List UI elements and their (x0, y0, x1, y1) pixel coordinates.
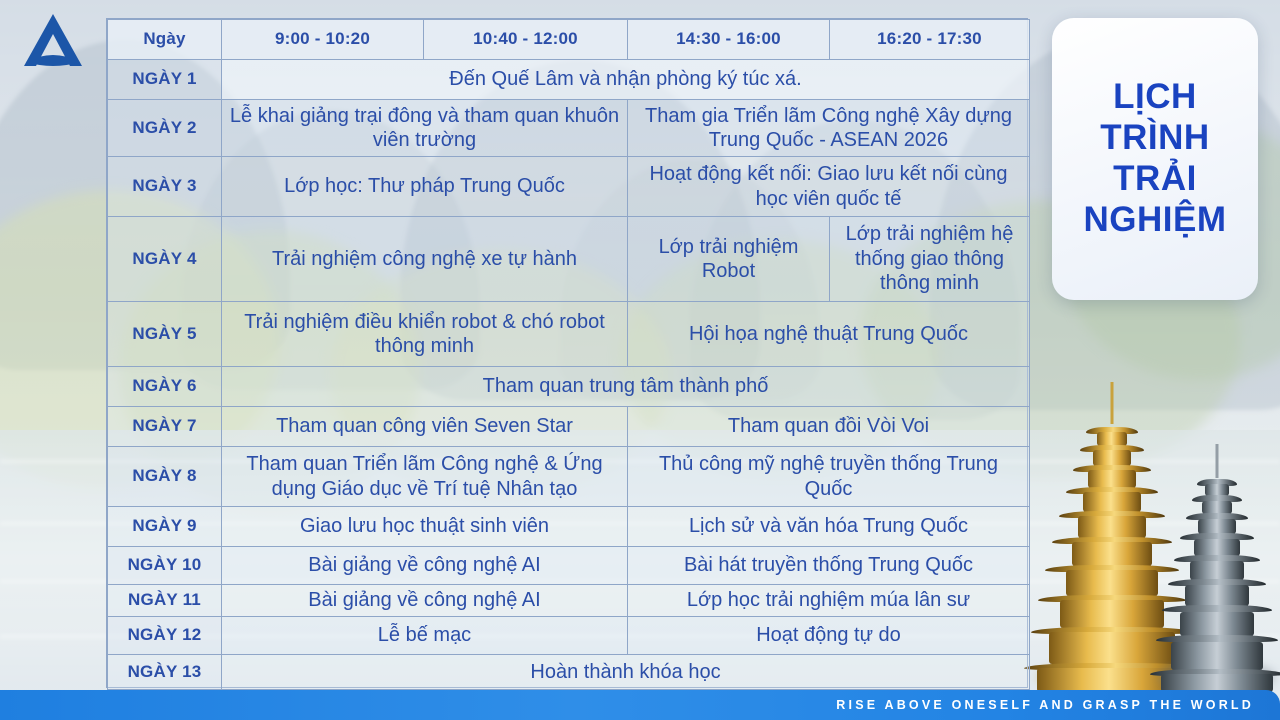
activity-cell: Lớp học: Thư pháp Trung Quốc (222, 157, 628, 217)
schedule-table-wrapper: Ngày 9:00 - 10:20 10:40 - 12:00 14:30 - … (106, 18, 1028, 688)
column-header-slot-3: 14:30 - 16:00 (628, 20, 830, 60)
column-header-slot-1: 9:00 - 10:20 (222, 20, 424, 60)
day-label-cell: NGÀY 2 (108, 100, 222, 157)
table-header-row: Ngày 9:00 - 10:20 10:40 - 12:00 14:30 - … (108, 20, 1030, 60)
schedule-table: Ngày 9:00 - 10:20 10:40 - 12:00 14:30 - … (107, 19, 1030, 690)
activity-cell: Bài giảng về công nghệ AI (222, 547, 628, 585)
table-row: NGÀY 2Lễ khai giảng trại đông và tham qu… (108, 100, 1030, 157)
activity-cell: Trải nghiệm điều khiển robot & chó robot… (222, 302, 628, 367)
table-row: NGÀY 9Giao lưu học thuật sinh viênLịch s… (108, 507, 1030, 547)
activity-cell: Lớp trải nghiệm Robot (628, 217, 830, 302)
table-row: NGÀY 4Trải nghiệm công nghệ xe tự hànhLớ… (108, 217, 1030, 302)
activity-cell: Đến Quế Lâm và nhận phòng ký túc xá. (222, 60, 1030, 100)
day-label-cell: NGÀY 5 (108, 302, 222, 367)
activity-cell: Bài giảng về công nghệ AI (222, 585, 628, 617)
table-row: NGÀY 8Tham quan Triển lãm Công nghệ & Ứn… (108, 447, 1030, 507)
day-label-cell: NGÀY 10 (108, 547, 222, 585)
table-row: NGÀY 12Lễ bế mạcHoạt động tự do (108, 617, 1030, 655)
banner-tagline: RISE ABOVE ONESELF AND GRASP THE WORLD (836, 698, 1280, 712)
activity-cell: Hoạt động kết nối: Giao lưu kết nối cùng… (628, 157, 1030, 217)
activity-cell: Hoàn thành khóa học (222, 655, 1030, 690)
activity-cell: Hội họa nghệ thuật Trung Quốc (628, 302, 1030, 367)
activity-cell: Giao lưu học thuật sinh viên (222, 507, 628, 547)
table-body: NGÀY 1Đến Quế Lâm và nhận phòng ký túc x… (108, 60, 1030, 690)
column-header-day: Ngày (108, 20, 222, 60)
table-row: NGÀY 6Tham quan trung tâm thành phố (108, 367, 1030, 407)
bottom-banner: RISE ABOVE ONESELF AND GRASP THE WORLD (0, 690, 1280, 720)
table-row: NGÀY 3Lớp học: Thư pháp Trung QuốcHoạt đ… (108, 157, 1030, 217)
title-card: LỊCH TRÌNH TRẢI NGHIỆM (1052, 18, 1258, 300)
day-label-cell: NGÀY 3 (108, 157, 222, 217)
activity-cell: Lịch sử và văn hóa Trung Quốc (628, 507, 1030, 547)
table-row: NGÀY 13Hoàn thành khóa học (108, 655, 1030, 690)
day-label-cell: NGÀY 4 (108, 217, 222, 302)
table-row: NGÀY 11Bài giảng về công nghệ AILớp học … (108, 585, 1030, 617)
activity-cell: Hoạt động tự do (628, 617, 1030, 655)
column-header-slot-2: 10:40 - 12:00 (424, 20, 628, 60)
day-label-cell: NGÀY 13 (108, 655, 222, 690)
page-title: LỊCH TRÌNH TRẢI NGHIỆM (1084, 77, 1227, 241)
activity-cell: Bài hát truyền thống Trung Quốc (628, 547, 1030, 585)
activity-cell: Tham quan đồi Vòi Voi (628, 407, 1030, 447)
day-label-cell: NGÀY 7 (108, 407, 222, 447)
day-label-cell: NGÀY 11 (108, 585, 222, 617)
table-row: NGÀY 7Tham quan công viên Seven StarTham… (108, 407, 1030, 447)
column-header-slot-4: 16:20 - 17:30 (830, 20, 1030, 60)
silver-pagoda-image (1148, 444, 1280, 692)
day-label-cell: NGÀY 6 (108, 367, 222, 407)
day-label-cell: NGÀY 8 (108, 447, 222, 507)
activity-cell: Tham gia Triển lãm Công nghệ Xây dựng Tr… (628, 100, 1030, 157)
day-label-cell: NGÀY 9 (108, 507, 222, 547)
activity-cell: Lễ bế mạc (222, 617, 628, 655)
day-label-cell: NGÀY 12 (108, 617, 222, 655)
activity-cell: Lễ khai giảng trại đông và tham quan khu… (222, 100, 628, 157)
activity-cell: Lớp trải nghiệm hệ thống giao thông thôn… (830, 217, 1030, 302)
slide-canvas: Ngày 9:00 - 10:20 10:40 - 12:00 14:30 - … (0, 0, 1280, 720)
activity-cell: Tham quan Triển lãm Công nghệ & Ứng dụng… (222, 447, 628, 507)
activity-cell: Lớp học trải nghiệm múa lân sư (628, 585, 1030, 617)
activity-cell: Thủ công mỹ nghệ truyền thống Trung Quốc (628, 447, 1030, 507)
table-header: Ngày 9:00 - 10:20 10:40 - 12:00 14:30 - … (108, 20, 1030, 60)
table-row: NGÀY 1Đến Quế Lâm và nhận phòng ký túc x… (108, 60, 1030, 100)
activity-cell: Trải nghiệm công nghệ xe tự hành (222, 217, 628, 302)
day-label-cell: NGÀY 1 (108, 60, 222, 100)
table-row: NGÀY 10Bài giảng về công nghệ AIBài hát … (108, 547, 1030, 585)
triangle-a-logo (20, 10, 86, 74)
activity-cell: Tham quan công viên Seven Star (222, 407, 628, 447)
activity-cell: Tham quan trung tâm thành phố (222, 367, 1030, 407)
table-row: NGÀY 5Trải nghiệm điều khiển robot & chó… (108, 302, 1030, 367)
